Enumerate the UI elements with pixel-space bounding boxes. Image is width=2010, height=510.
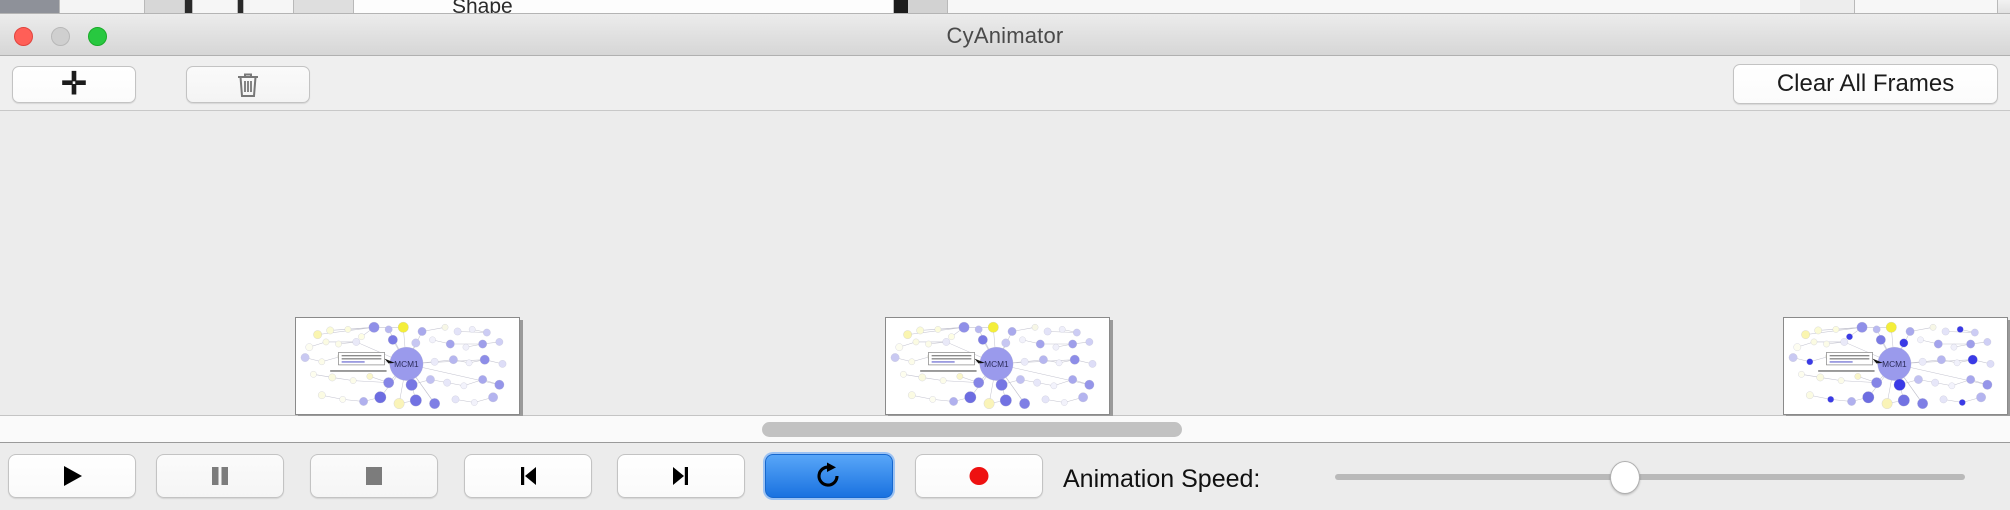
window-title: CyAnimator [0,23,2010,49]
background-window-strip: Shape [0,0,2010,14]
frame-thumbnail-1[interactable]: MCM1 [295,317,520,415]
skip-back-button[interactable] [464,454,592,498]
loop-icon [815,461,843,491]
title-bar: CyAnimator [0,14,2010,56]
pause-icon [208,462,232,490]
playback-controls: Animation Speed: [0,444,2010,510]
slider-rail [1335,474,1965,480]
animation-speed-slider[interactable] [1335,474,1965,480]
delete-frame-button[interactable] [186,66,310,103]
pause-button[interactable] [156,454,284,498]
skip-forward-icon [669,462,693,490]
animation-speed-label: Animation Speed: [1063,465,1260,494]
timeline-scrollbar[interactable] [0,416,2010,443]
add-frame-button[interactable]: ✛ [12,66,136,103]
svg-text:MCM1: MCM1 [984,359,1009,369]
frame-thumbnail-2[interactable]: MCM1 [885,317,1110,415]
stop-button[interactable] [310,454,438,498]
skip-back-icon [516,462,540,490]
loop-button[interactable] [765,454,893,498]
record-button[interactable] [915,454,1043,498]
plus-icon: ✛ [61,68,87,99]
toolbar: ✛ Clear All Frames [0,56,2010,111]
skip-forward-button[interactable] [617,454,745,498]
timeline-panel[interactable]: MCM1MCM1MCM1 12131415161718 Seconds [0,111,2010,416]
frame-network-preview: MCM1 [1786,320,2005,412]
scrollbar-thumb[interactable] [762,422,1182,437]
frames-track[interactable] [0,111,2010,309]
frame-network-preview: MCM1 [298,320,517,412]
cyanimator-window: Shape CyAnimator ✛ Clear All Frames [0,0,2010,510]
trash-icon [235,71,261,99]
svg-text:MCM1: MCM1 [394,359,419,369]
background-window-label: Shape [452,0,513,14]
clear-all-frames-button[interactable]: Clear All Frames [1733,64,1998,104]
svg-text:MCM1: MCM1 [1882,359,1907,369]
record-icon [966,462,992,490]
frame-network-preview: MCM1 [888,320,1107,412]
play-button[interactable] [8,454,136,498]
slider-thumb[interactable] [1610,461,1640,494]
stop-icon [362,462,386,490]
frame-thumbnail-3[interactable]: MCM1 [1783,317,2008,415]
play-icon [59,462,85,490]
